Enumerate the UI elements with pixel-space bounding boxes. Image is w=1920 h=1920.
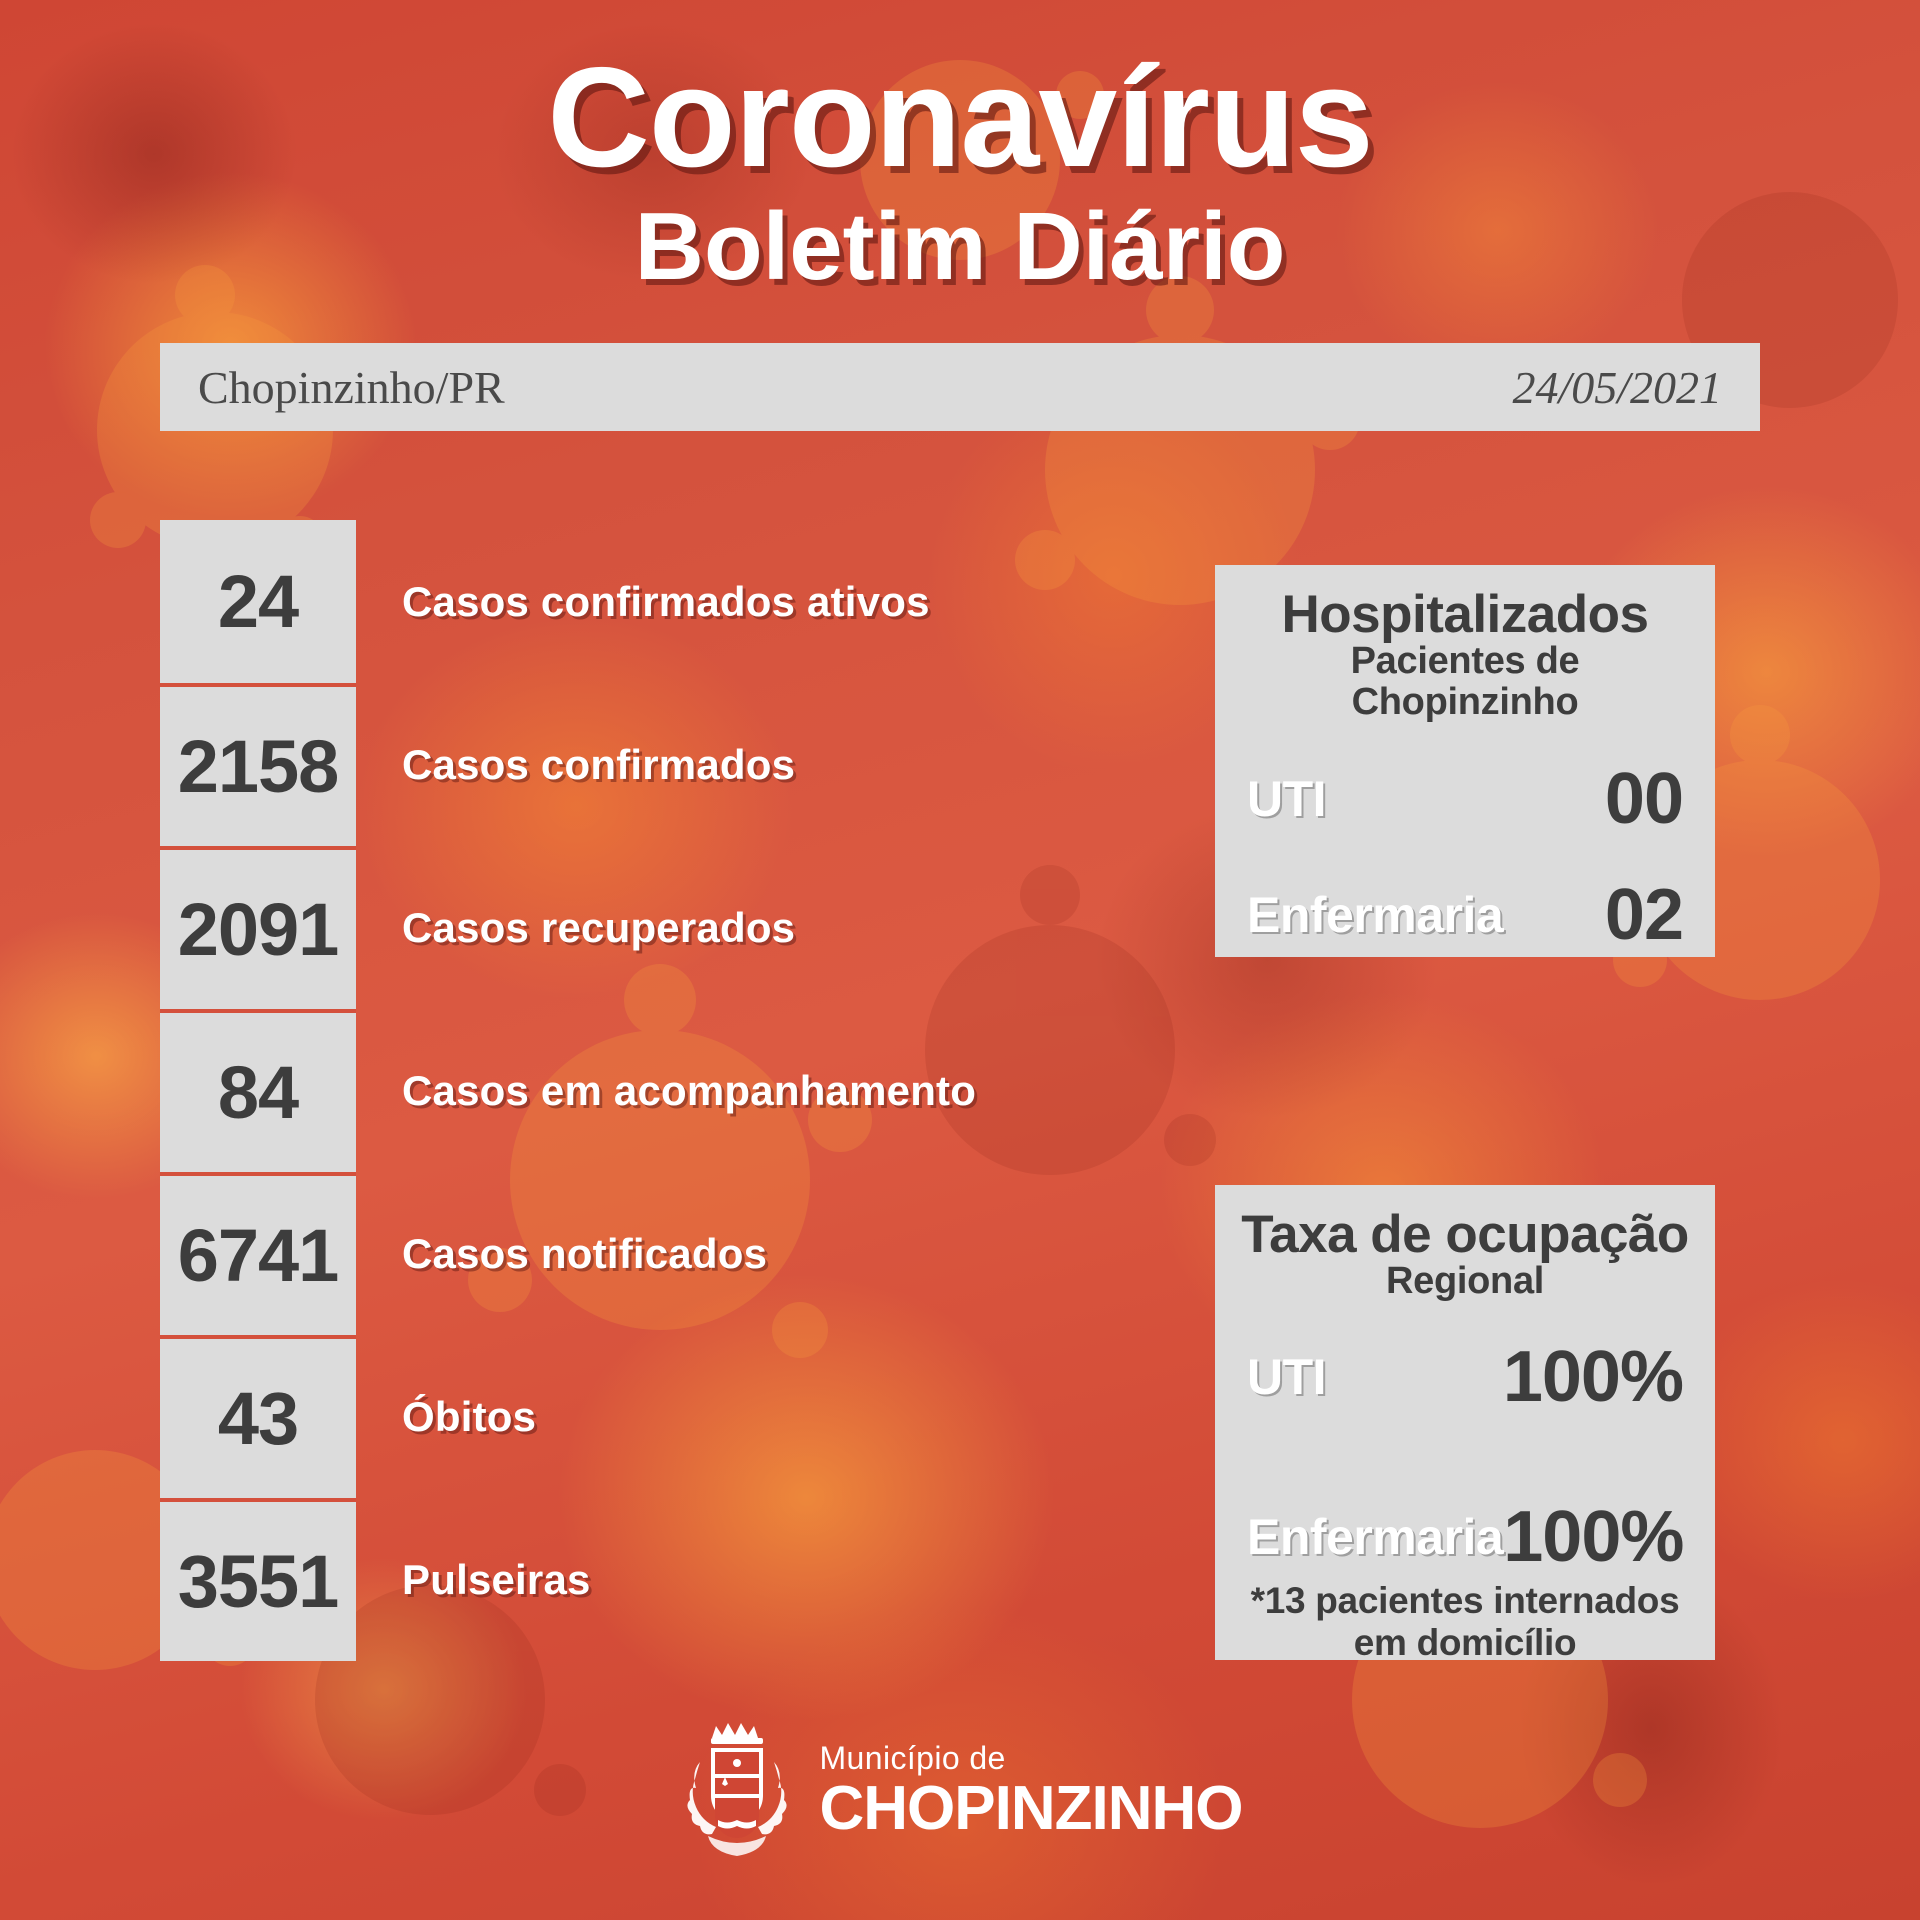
stat-label: Casos confirmados	[402, 741, 795, 789]
hospitalized-uti-value: 00	[1605, 758, 1683, 840]
page-subtitle: Boletim Diário	[0, 197, 1920, 298]
stat-value-box: 2091	[160, 846, 356, 1009]
stat-label: Casos confirmados ativos	[402, 578, 930, 626]
stat-label: Pulseiras	[402, 1556, 591, 1604]
list-item: 3551 Pulseiras	[160, 1498, 1190, 1661]
stat-label: Casos em acompanhamento	[402, 1067, 976, 1115]
stat-value-box: 43	[160, 1335, 356, 1498]
stat-label: Casos notificados	[402, 1230, 767, 1278]
occupancy-footnote: *13 pacientes internados em domicílio	[1241, 1580, 1689, 1663]
stat-label: Casos recuperados	[402, 904, 795, 952]
occupancy-enfermaria-label: Enfermaria	[1247, 1508, 1503, 1566]
occupancy-uti-label: UTI	[1247, 1348, 1326, 1406]
statistics-list: 24 Casos confirmados ativos 2158 Casos c…	[160, 520, 1190, 1661]
stat-value: 43	[218, 1376, 298, 1461]
brand-main-line: CHOPINZINHO	[820, 1778, 1243, 1840]
stat-value-box: 3551	[160, 1498, 356, 1661]
hospitalized-subtitle: Pacientes de Chopinzinho	[1241, 641, 1689, 725]
stat-value: 2091	[178, 887, 339, 972]
list-item: 43 Óbitos	[160, 1335, 1190, 1498]
hospitalized-panel: Hospitalizados Pacientes de Chopinzinho …	[1215, 565, 1715, 957]
stat-value-box: 2158	[160, 683, 356, 846]
page-title: Coronavírus	[0, 46, 1920, 191]
stat-value: 3551	[178, 1539, 339, 1624]
covid-bulletin-poster: Coronavírus Boletim Diário Chopinzinho/P…	[0, 0, 1920, 1920]
city-label: Chopinzinho/PR	[198, 361, 505, 414]
stat-value: 6741	[178, 1213, 339, 1298]
occupancy-subtitle: Regional	[1241, 1261, 1689, 1303]
coat-of-arms-icon	[678, 1716, 796, 1866]
stat-value: 84	[218, 1050, 298, 1135]
stat-value: 2158	[178, 724, 339, 809]
list-item: 6741 Casos notificados	[160, 1172, 1190, 1335]
occupancy-enfermaria-value: 100%	[1503, 1496, 1683, 1578]
stat-value-box: 24	[160, 520, 356, 683]
stat-value-box: 84	[160, 1009, 356, 1172]
hospitalized-enfermaria-value: 02	[1605, 874, 1683, 956]
list-item: 2158 Casos confirmados	[160, 683, 1190, 846]
date-label: 24/05/2021	[1512, 361, 1722, 414]
list-item: 84 Casos em acompanhamento	[160, 1009, 1190, 1172]
location-date-bar: Chopinzinho/PR 24/05/2021	[160, 343, 1760, 431]
footer-logo: Município de CHOPINZINHO	[0, 1716, 1920, 1866]
occupancy-row-uti: UTI 100%	[1241, 1336, 1689, 1418]
occupancy-row-enfermaria: Enfermaria 100%	[1241, 1496, 1689, 1578]
occupancy-rate-panel: Taxa de ocupação Regional UTI 100% Enfer…	[1215, 1185, 1715, 1660]
occupancy-uti-value: 100%	[1503, 1336, 1683, 1418]
list-item: 2091 Casos recuperados	[160, 846, 1190, 1009]
hospitalized-row-uti: UTI 00	[1241, 758, 1689, 840]
occupancy-title: Taxa de ocupação	[1241, 1207, 1689, 1263]
hospitalized-enfermaria-label: Enfermaria	[1247, 886, 1503, 944]
stat-value: 24	[218, 559, 298, 644]
list-item: 24 Casos confirmados ativos	[160, 520, 1190, 683]
hospitalized-title: Hospitalizados	[1241, 587, 1689, 643]
brand-text: Município de CHOPINZINHO	[820, 1742, 1243, 1840]
hospitalized-uti-label: UTI	[1247, 770, 1326, 828]
stat-value-box: 6741	[160, 1172, 356, 1335]
stat-label: Óbitos	[402, 1393, 536, 1441]
poster-heading: Coronavírus Boletim Diário	[0, 46, 1920, 298]
brand-top-line: Município de	[820, 1742, 1243, 1774]
hospitalized-row-enfermaria: Enfermaria 02	[1241, 874, 1689, 956]
